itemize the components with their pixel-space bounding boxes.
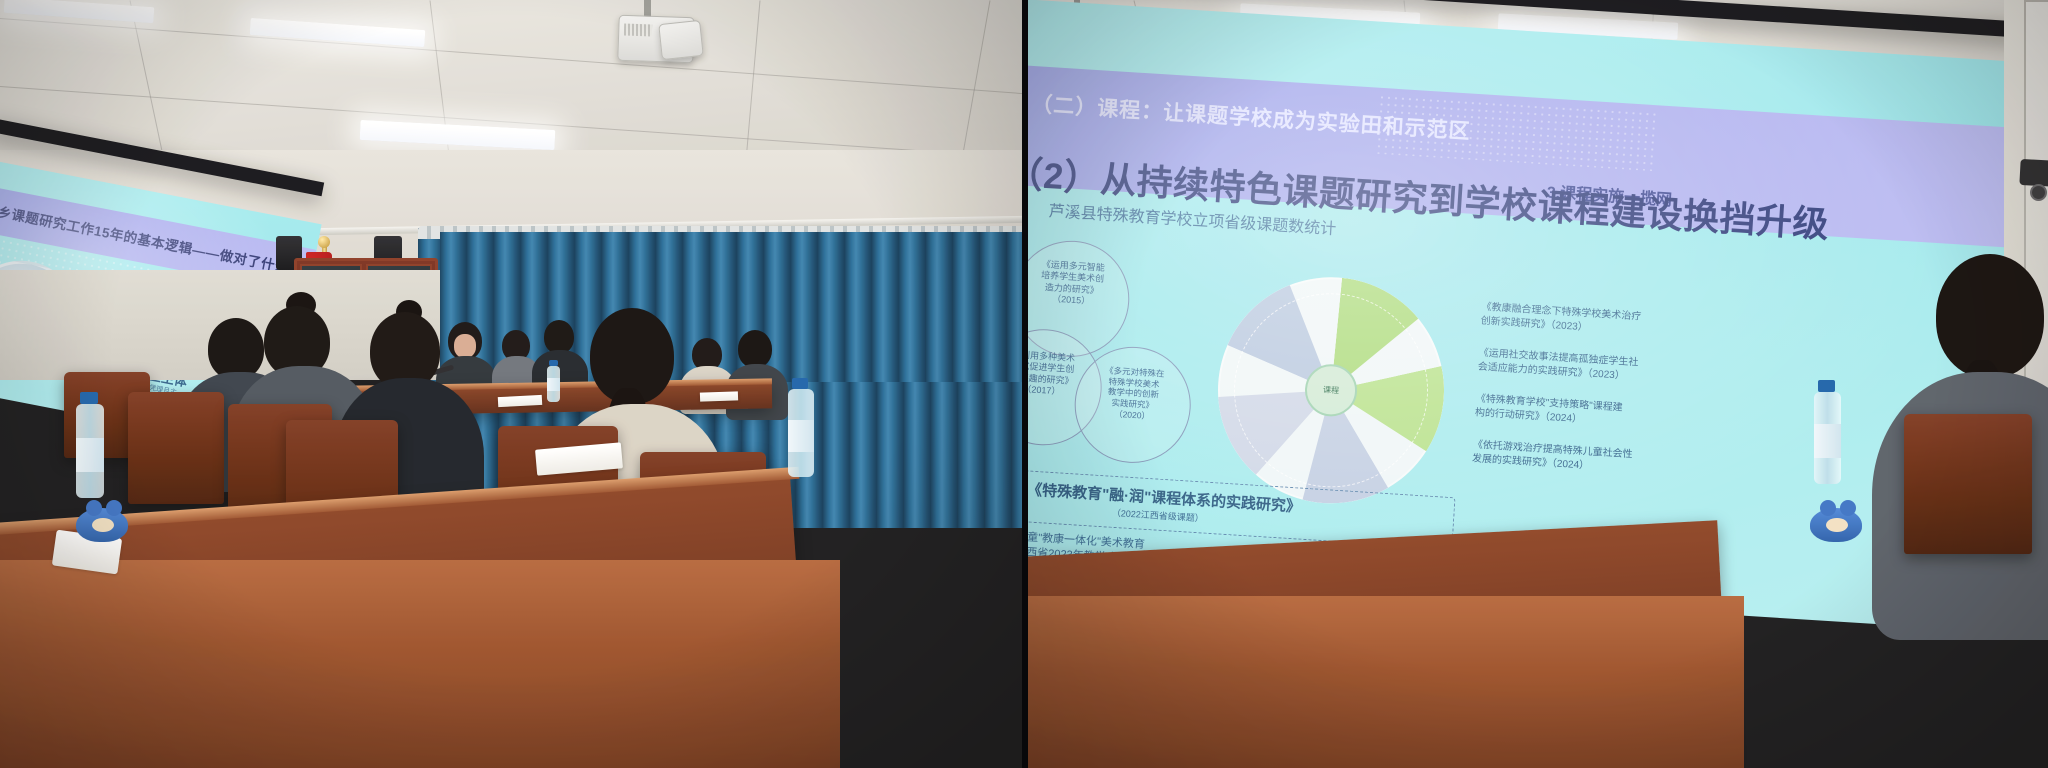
flag-pole-knob xyxy=(318,236,330,248)
reference-item: 《教康融合理念下特殊学校美术治疗 创新实践研究》（2023） xyxy=(1480,301,1641,339)
venn-label: 《运用多元智能 培养学生美术创 造力的研究》 （2015） xyxy=(1024,258,1126,309)
camera-lens xyxy=(2030,184,2047,201)
rose-chart-center-label: 课程 xyxy=(1323,384,1340,396)
left-photo: 萍乡课题研究工作15年的基本逻辑——做对了什么? 科研价值导向 不以功利论英雄和… xyxy=(0,0,1024,768)
near-table-surface xyxy=(0,560,840,768)
chair xyxy=(1904,414,2032,554)
reference-item: 《依托游戏治疗提高特殊儿童社会性 发展的实践研究》（2024） xyxy=(1472,438,1633,476)
photo-divider xyxy=(1022,0,1028,768)
projector-vent xyxy=(624,24,652,37)
document-paper xyxy=(700,391,738,401)
reference-item: 《运用社交故事法提高孤独症学生社 会适应能力的实践研究》（2023） xyxy=(1477,347,1638,385)
projector-body-extension xyxy=(658,20,704,60)
near-table-surface xyxy=(1024,596,1744,768)
photo-pair-stage: 萍乡课题研究工作15年的基本逻辑——做对了什么? 科研价值导向 不以功利论英雄和… xyxy=(0,0,2048,768)
right-photo: （二）课程：让课题学校成为实验田和示范区 3.课程实施一揽网 （2）从持续特色课… xyxy=(1024,0,2048,768)
venn-label: 《多元对特殊在 特殊学校美术 教学中的创新 实践研究》 （2020） xyxy=(1080,364,1187,424)
wall-camera xyxy=(2019,159,2048,187)
chair xyxy=(128,392,224,504)
reference-item: 《特殊教育学校"支持策略"课程建 构的行动研究》（2024） xyxy=(1474,392,1623,429)
rose-chart: 课程 xyxy=(1211,270,1451,510)
